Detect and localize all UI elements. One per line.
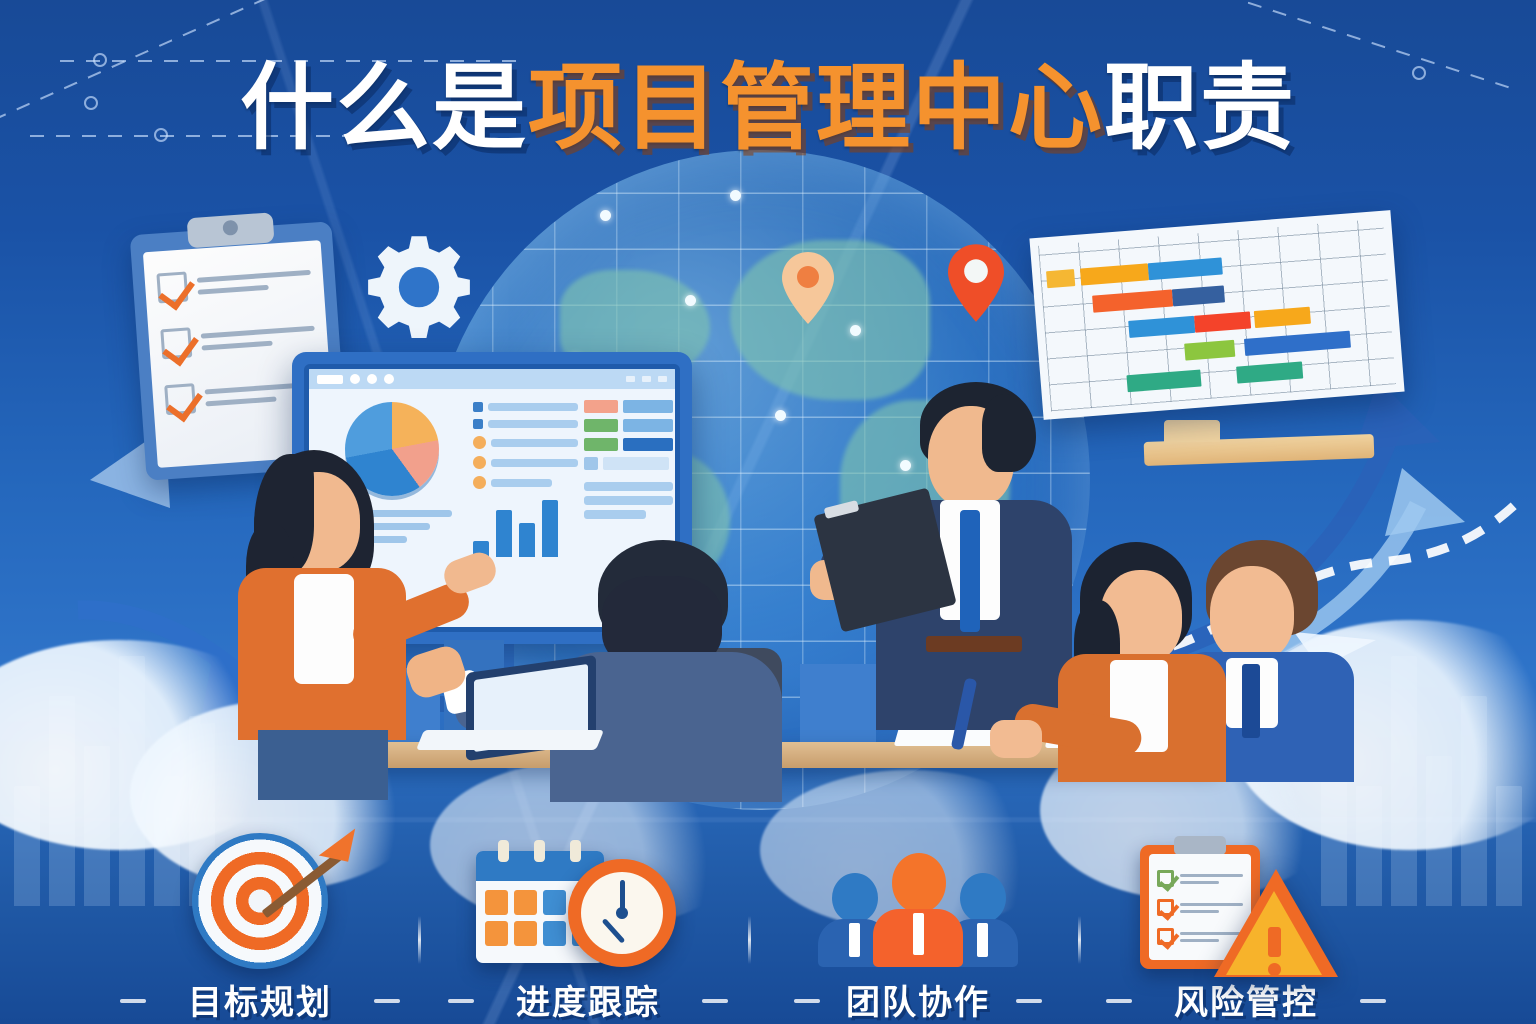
toolbar-dot-icon[interactable] xyxy=(350,374,360,384)
feature-team-collaboration[interactable]: 团队协作 xyxy=(768,829,1068,1024)
poster-root: 什么是项目管理中心职责 xyxy=(0,0,1536,1024)
office-building-graphic xyxy=(800,664,876,748)
gantt-chart-panel xyxy=(1029,210,1404,420)
person-presenter-woman xyxy=(232,450,422,780)
person-tie xyxy=(913,913,924,955)
clipboard-warning-icon xyxy=(1096,829,1396,969)
status-list xyxy=(473,398,578,489)
hand xyxy=(990,720,1042,758)
necktie xyxy=(1242,664,1260,738)
warning-exclamation-dot xyxy=(1268,963,1281,976)
person-seated-woman xyxy=(1052,542,1232,772)
toolbar-pill xyxy=(317,375,343,384)
label-dash-right xyxy=(1016,999,1042,1003)
dashboard-tag-widget xyxy=(584,398,673,557)
globe-node-icon xyxy=(850,325,861,336)
check-icon-green xyxy=(1157,870,1174,887)
label-dash-right xyxy=(1360,999,1386,1003)
clock-face xyxy=(581,872,663,954)
person-head xyxy=(892,853,946,913)
map-pin-icon-light xyxy=(782,252,834,324)
check-icon xyxy=(160,327,192,359)
calendar-ring xyxy=(498,840,509,862)
poster-title-wrapper: 什么是项目管理中心职责 xyxy=(0,58,1536,160)
toolbar-tick xyxy=(658,376,667,382)
team-people-icon xyxy=(768,829,1068,969)
check-icon xyxy=(156,271,188,303)
label-dash-left xyxy=(1106,999,1132,1003)
hair-side xyxy=(982,394,1036,472)
label-dash-left xyxy=(120,999,146,1003)
dashboard-toolbar xyxy=(309,369,675,389)
globe-node-icon xyxy=(685,295,696,306)
list-item xyxy=(473,436,578,449)
feature-divider xyxy=(748,916,751,964)
clock-icon xyxy=(568,859,676,967)
tag-row xyxy=(584,457,673,470)
person-head xyxy=(832,873,878,923)
checklist-text-lines xyxy=(201,325,316,350)
feature-goal-planning[interactable]: 目标规划 xyxy=(110,829,410,1024)
tag-row xyxy=(584,400,673,413)
feature-label: 风险管控 xyxy=(1096,975,1396,1024)
label-dash-left xyxy=(794,999,820,1003)
calendar-clock-icon xyxy=(438,829,738,969)
arrow-fletching xyxy=(319,822,355,861)
globe-node-icon xyxy=(600,210,611,221)
globe-node-icon xyxy=(730,190,741,201)
poster-title: 什么是项目管理中心职责 xyxy=(240,58,1296,160)
clipboard-clip-icon xyxy=(187,212,275,248)
feature-risk-control[interactable]: 风险管控 xyxy=(1096,829,1396,1024)
person-tie xyxy=(849,923,860,957)
list-item xyxy=(473,476,578,489)
laptop-base xyxy=(416,730,604,750)
toolbar-dot-icon[interactable] xyxy=(384,374,394,384)
dashboard-list-widget xyxy=(473,398,578,557)
feature-label: 进度跟踪 xyxy=(438,975,738,1024)
label-dash-right xyxy=(702,999,728,1003)
check-icon-orange xyxy=(1157,899,1174,916)
clipboard-clip-icon xyxy=(1174,836,1226,855)
feature-schedule-control[interactable]: 进度跟踪 xyxy=(438,829,738,1024)
target-arrow-icon xyxy=(110,829,410,969)
necktie xyxy=(960,510,980,632)
target-rings xyxy=(192,833,328,969)
title-segment-white-1: 什么是 xyxy=(240,58,528,160)
title-segment-orange: 项目管理中心 xyxy=(528,58,1104,160)
warning-exclamation-bar xyxy=(1268,927,1281,957)
tag-caption-lines xyxy=(584,482,673,519)
clock-center xyxy=(616,907,628,919)
label-dash-left xyxy=(448,999,474,1003)
title-segment-white-2: 职责 xyxy=(1104,58,1296,160)
toolbar-dot-icon[interactable] xyxy=(367,374,377,384)
team-person-center xyxy=(873,853,963,965)
checklist-item xyxy=(156,263,312,304)
belt xyxy=(926,636,1022,652)
feature-divider xyxy=(418,916,421,964)
label-dash-right xyxy=(374,999,400,1003)
globe-node-icon xyxy=(775,410,786,421)
calendar-ring xyxy=(570,840,581,862)
feature-row: 目标规划 xyxy=(0,769,1536,1024)
map-pin-icon-red xyxy=(948,244,1004,322)
feature-divider xyxy=(1078,916,1081,964)
toolbar-tick xyxy=(642,376,651,382)
calendar-ring xyxy=(534,840,545,862)
check-icon-orange xyxy=(1157,928,1174,945)
list-item xyxy=(473,419,578,429)
gear-icon xyxy=(366,232,472,338)
checklist-item xyxy=(160,319,316,360)
shirt xyxy=(294,574,354,684)
person-head xyxy=(960,873,1006,923)
list-item xyxy=(473,456,578,469)
person-tie xyxy=(977,923,988,957)
ruler-plank-tab xyxy=(1164,420,1220,442)
tag-row xyxy=(584,419,673,432)
checklist-text-lines xyxy=(197,269,312,294)
check-icon xyxy=(164,383,196,415)
clock-hour-hand xyxy=(602,918,626,944)
feature-label: 目标规划 xyxy=(110,975,410,1024)
toolbar-tick xyxy=(626,376,635,382)
gantt-bar xyxy=(1046,269,1075,288)
tag-row xyxy=(584,438,673,451)
team-group xyxy=(818,853,1018,965)
list-item xyxy=(473,402,578,412)
